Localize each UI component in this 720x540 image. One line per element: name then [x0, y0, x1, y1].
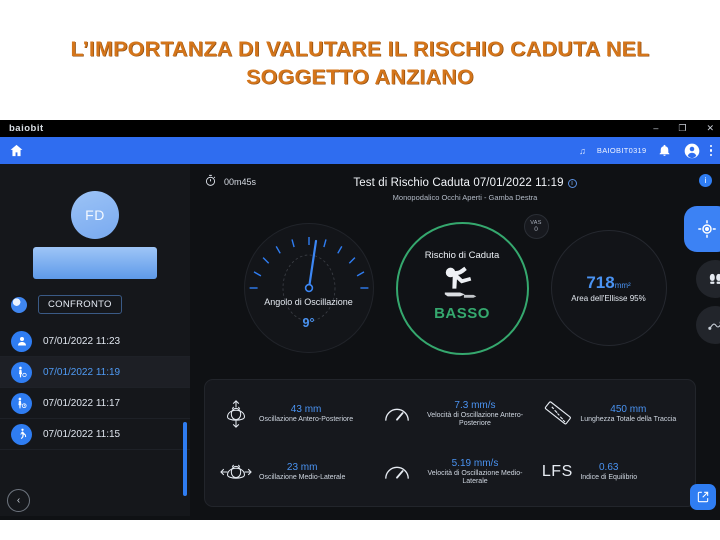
- info-icon[interactable]: i: [699, 174, 712, 187]
- trace-icon[interactable]: [696, 306, 720, 344]
- feet-icon[interactable]: [696, 260, 720, 298]
- metric-value: 23 mm: [259, 462, 345, 473]
- minimize-button[interactable]: –: [653, 124, 658, 133]
- metric-value: 450 mm: [580, 404, 676, 415]
- test-heading: Test di Rischio Caduta 07/01/2022 11:19 …: [190, 173, 720, 202]
- title-line-2: SOGGETTO ANZIANO: [18, 64, 702, 92]
- ruler-icon: [540, 397, 574, 431]
- compare-button[interactable]: CONFRONTO: [38, 295, 122, 314]
- gauge-ticks: [244, 223, 374, 353]
- kebab-menu-icon[interactable]: [710, 145, 717, 157]
- chevron-left-icon[interactable]: ‹: [7, 489, 30, 512]
- falling-person-icon: [439, 261, 485, 303]
- list-item[interactable]: 07/01/2022 11:15: [0, 419, 190, 450]
- metric-text: 450 mm Lunghezza Totale della Traccia: [580, 404, 676, 423]
- close-button[interactable]: ✕: [706, 124, 714, 133]
- main-content: 00m45s Test di Rischio Caduta 07/01/2022…: [190, 164, 720, 520]
- metric-oscillazione-ap: 43 mm Oscillazione Antero-Posteriore: [209, 385, 370, 443]
- test-list: 07/01/2022 11:23 07/01/2022 11:19 07/01/…: [0, 326, 190, 450]
- metric-text: 23 mm Oscillazione Medio-Laterale: [259, 462, 345, 481]
- ellipse-area-value-row: 718mm²: [586, 273, 630, 293]
- metric-oscillazione-ml: 23 mm Oscillazione Medio-Laterale: [209, 443, 370, 501]
- info-icon[interactable]: i: [568, 179, 577, 188]
- fall-risk-indicator: Rischio di Caduta BASSO VAS 0: [396, 222, 529, 355]
- window-controls[interactable]: – ❐ ✕: [653, 120, 714, 137]
- oscillation-angle-gauge: Angolo di Oscillazione 9°: [244, 223, 374, 353]
- metric-velocita-ml: 5.19 mm/s Velocità di Oscillazione Medio…: [370, 443, 531, 501]
- list-item[interactable]: 07/01/2022 11:19: [0, 357, 190, 388]
- walking-icon: [11, 424, 32, 445]
- vas-badge: VAS 0: [524, 214, 549, 239]
- metric-label: Velocità di Oscillazione Antero-Posterio…: [420, 412, 531, 428]
- gauge-value: 9°: [244, 316, 374, 330]
- app-toolbar: ♫ BAIOBIT0319: [0, 137, 720, 164]
- metric-velocita-ap: 7.3 mm/s Velocità di Oscillazione Antero…: [370, 385, 531, 443]
- lfs-text-icon: LFS: [540, 455, 574, 489]
- app-body: FD CONFRONTO 07/01/2022 11:23: [0, 164, 720, 520]
- list-item-label: 07/01/2022 11:23: [43, 336, 120, 347]
- metric-value: 43 mm: [259, 404, 353, 415]
- metrics-panel: 43 mm Oscillazione Antero-Posteriore: [204, 379, 696, 507]
- list-item-label: 07/01/2022 11:15: [43, 429, 120, 440]
- ellipse-area-label: Area dell'Ellisse 95%: [571, 294, 645, 303]
- page-title: Test di Rischio Caduta 07/01/2022 11:19: [353, 177, 563, 189]
- metric-text: 0.63 Indice di Equilibrio: [580, 462, 637, 481]
- sway-ml-icon: [219, 455, 253, 489]
- application-window: baiobit – ❐ ✕ ♫ BAIOBIT0319: [0, 120, 720, 520]
- title-line-1: L’IMPORTANZA DI VALUTARE IL RISCHIO CADU…: [18, 36, 702, 64]
- ellipse-area-unit: mm²: [615, 281, 631, 290]
- compare-toggle-icon[interactable]: [11, 297, 27, 313]
- metric-text: 5.19 mm/s Velocità di Oscillazione Medio…: [420, 458, 531, 485]
- balance-test-icon: [11, 362, 32, 383]
- gauge-label: Angolo di Oscillazione: [244, 297, 374, 307]
- metric-label: Velocità di Oscillazione Medio-Laterale: [420, 470, 531, 486]
- metric-value: 0.63: [580, 462, 637, 473]
- fall-risk-level: BASSO: [434, 305, 490, 322]
- metric-text: 7.3 mm/s Velocità di Oscillazione Antero…: [420, 400, 531, 427]
- metric-label: Oscillazione Antero-Posteriore: [259, 416, 353, 424]
- test-duration: 00m45s: [204, 174, 256, 189]
- list-item-label: 07/01/2022 11:17: [43, 398, 120, 409]
- metric-value: 5.19 mm/s: [420, 458, 531, 469]
- metric-label: Oscillazione Medio-Laterale: [259, 474, 345, 482]
- avatar[interactable]: FD: [71, 191, 119, 239]
- list-item[interactable]: 07/01/2022 11:23: [0, 326, 190, 357]
- timed-test-icon: [11, 393, 32, 414]
- metric-label: Indice di Equilibrio: [580, 474, 637, 482]
- test-title-row: Test di Rischio Caduta 07/01/2022 11:19 …: [353, 177, 576, 189]
- metric-indice-equilibrio: LFS 0.63 Indice di Equilibrio: [530, 443, 691, 501]
- account-icon[interactable]: [683, 142, 701, 160]
- toolbar-right-group: ♫ BAIOBIT0319: [579, 137, 716, 164]
- export-icon[interactable]: [690, 484, 716, 510]
- person-icon: [11, 331, 32, 352]
- test-subtitle: Monopodalico Occhi Aperti - Gamba Destra: [210, 193, 720, 202]
- sidebar-scrollbar[interactable]: [183, 422, 187, 496]
- vas-value: 0: [534, 226, 538, 233]
- metric-value: 7.3 mm/s: [420, 400, 531, 411]
- speedometer-icon: [380, 397, 414, 431]
- patient-name-redacted-bar: [33, 247, 157, 279]
- slide-root: L’IMPORTANZA DI VALUTARE IL RISCHIO CADU…: [0, 0, 720, 540]
- metric-label: Lunghezza Totale della Traccia: [580, 416, 676, 424]
- compare-row: CONFRONTO: [0, 295, 190, 314]
- slide-title: L’IMPORTANZA DI VALUTARE IL RISCHIO CADU…: [0, 36, 720, 91]
- hero-row: Angolo di Oscillazione 9° Rischio di Cad…: [190, 208, 720, 368]
- app-bottom-edge: [0, 516, 720, 520]
- device-name-label: BAIOBIT0319: [597, 146, 647, 155]
- sidebar-avatar-wrap: FD: [0, 164, 190, 239]
- stopwatch-icon: [204, 174, 217, 189]
- list-item-label: 07/01/2022 11:19: [43, 367, 120, 378]
- list-top-clip: [0, 314, 190, 320]
- list-item[interactable]: 07/01/2022 11:17: [0, 388, 190, 419]
- speedometer-icon: [380, 455, 414, 489]
- metric-text: 43 mm Oscillazione Antero-Posteriore: [259, 404, 353, 423]
- sway-ap-icon: [219, 397, 253, 431]
- window-titlebar: baiobit – ❐ ✕: [0, 120, 720, 137]
- ellipse-area-indicator: 718mm² Area dell'Ellisse 95%: [551, 230, 667, 346]
- home-icon[interactable]: [6, 141, 26, 161]
- maximize-button[interactable]: ❐: [678, 124, 686, 133]
- bluetooth-icon: ♫: [579, 146, 586, 156]
- duration-label: 00m45s: [224, 177, 256, 187]
- target-icon[interactable]: [684, 206, 720, 252]
- app-brand-logo: baiobit: [0, 123, 44, 134]
- bell-icon[interactable]: [656, 142, 674, 160]
- ellipse-area-value: 718: [586, 273, 614, 292]
- fall-risk-title: Rischio di Caduta: [425, 250, 499, 261]
- metric-lunghezza-traccia: 450 mm Lunghezza Totale della Traccia: [530, 385, 691, 443]
- sidebar: FD CONFRONTO 07/01/2022 11:23: [0, 164, 190, 520]
- content-header: 00m45s Test di Rischio Caduta 07/01/2022…: [190, 164, 720, 208]
- right-rail: i: [674, 164, 720, 520]
